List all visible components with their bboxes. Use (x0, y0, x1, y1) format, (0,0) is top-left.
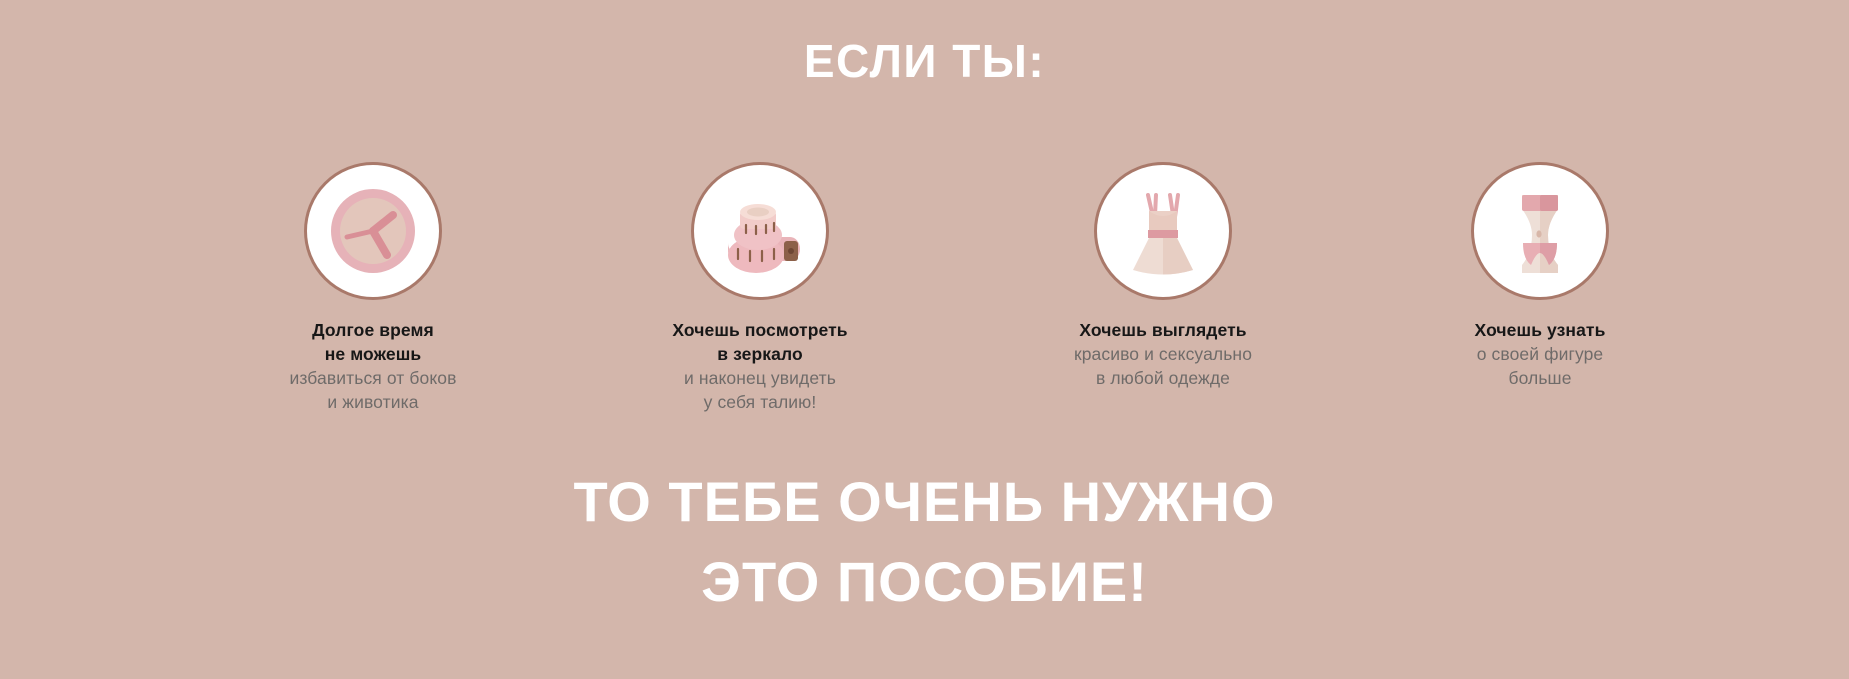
feature-caption-1: Долгое время не можешь избавиться от бок… (223, 318, 523, 415)
feature-icon-circle-2 (691, 162, 829, 300)
call-to-action-heading: ТО ТЕБЕ ОЧЕНЬ НУЖНО ЭТО ПОСОБИЕ! (0, 462, 1849, 621)
feature-item-1: Долгое время не можешь избавиться от бок… (223, 162, 523, 415)
feature-thin-line: у себя талию! (610, 390, 910, 414)
feature-item-3: Хочешь выглядеть красиво и сексуально в … (1013, 162, 1313, 390)
feature-list: Долгое время не можешь избавиться от бок… (0, 162, 1849, 422)
feature-bold-line: в зеркало (610, 342, 910, 366)
feature-thin-line: в любой одежде (1013, 366, 1313, 390)
feature-caption-4: Хочешь узнать о своей фигуре больше (1390, 318, 1690, 390)
feature-bold-line: Хочешь посмотреть (610, 318, 910, 342)
feature-thin-line: о своей фигуре (1390, 342, 1690, 366)
measuring-tape-icon (712, 183, 808, 279)
cta-line-2: ЭТО ПОСОБИЕ! (0, 542, 1849, 622)
promo-section: ЕСЛИ ТЫ: Долгое время не можешь (0, 0, 1849, 679)
feature-item-4: Хочешь узнать о своей фигуре больше (1390, 162, 1690, 390)
feature-thin-line: красиво и сексуально (1013, 342, 1313, 366)
page-title: ЕСЛИ ТЫ: (0, 36, 1849, 87)
feature-bold-line: не можешь (223, 342, 523, 366)
dress-icon (1115, 183, 1211, 279)
feature-thin-line: и наконец увидеть (610, 366, 910, 390)
feature-thin-line: избавиться от боков (223, 366, 523, 390)
feature-caption-3: Хочешь выглядеть красиво и сексуально в … (1013, 318, 1313, 390)
clock-icon (327, 185, 419, 277)
feature-icon-circle-4 (1471, 162, 1609, 300)
feature-icon-circle-1 (304, 162, 442, 300)
feature-thin-line: больше (1390, 366, 1690, 390)
feature-icon-circle-3 (1094, 162, 1232, 300)
feature-item-2: Хочешь посмотреть в зеркало и наконец ув… (610, 162, 910, 415)
feature-bold-line: Хочешь узнать (1390, 318, 1690, 342)
feature-bold-line: Хочешь выглядеть (1013, 318, 1313, 342)
feature-bold-line: Долгое время (223, 318, 523, 342)
female-torso-icon (1492, 183, 1588, 279)
feature-thin-line: и животика (223, 390, 523, 414)
feature-caption-2: Хочешь посмотреть в зеркало и наконец ув… (610, 318, 910, 415)
cta-line-1: ТО ТЕБЕ ОЧЕНЬ НУЖНО (0, 462, 1849, 542)
